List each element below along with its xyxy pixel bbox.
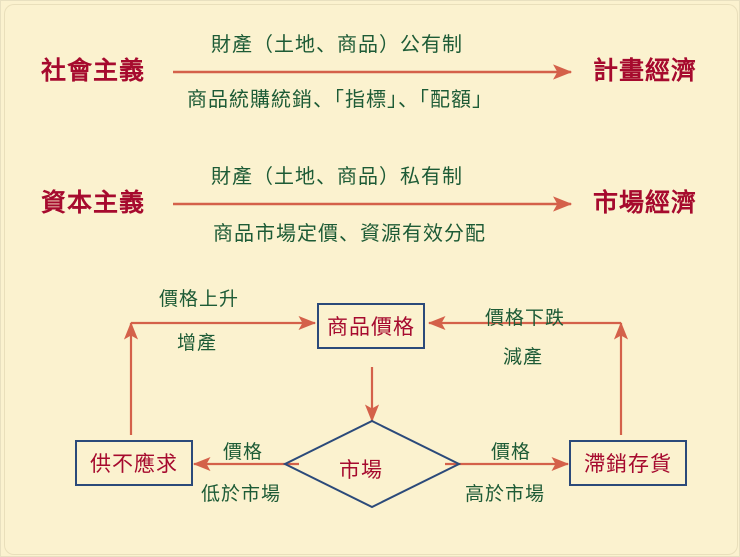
- commodity-price-label: 商品價格: [327, 311, 415, 341]
- increase-production-label: 增產: [177, 334, 217, 353]
- market-label: 市場: [339, 454, 383, 484]
- price-rise-label: 價格上升: [159, 290, 239, 309]
- market-diamond: 市場: [285, 421, 459, 507]
- socialism-label: 社會主義: [41, 58, 145, 83]
- capitalism-label: 資本主義: [41, 190, 145, 215]
- price-fall-label: 價格下跌: [485, 309, 565, 328]
- right-price-label: 價格: [491, 443, 531, 462]
- middle-above-arrow-text: 財產（土地、商品）私有制: [211, 166, 463, 186]
- below-market-label: 低於市場: [201, 485, 281, 504]
- decrease-production-label: 減產: [503, 348, 543, 367]
- planned-economy-label: 計畫經濟: [593, 58, 697, 83]
- top-above-arrow-text: 財產（土地、商品）公有制: [211, 34, 463, 54]
- top-below-arrow-text: 商品統購統銷、「指標」、「配額」: [187, 89, 493, 109]
- diagram-canvas: 社會主義 計畫經濟 財產（土地、商品）公有制 商品統購統銷、「指標」、「配額」 …: [0, 0, 740, 557]
- surplus-box: 滯銷存貨: [569, 440, 687, 486]
- shortage-label: 供不應求: [90, 448, 178, 478]
- left-price-label: 價格: [223, 443, 263, 462]
- shortage-box: 供不應求: [75, 440, 193, 486]
- middle-below-arrow-text: 商品市場定價、資源有效分配: [213, 223, 486, 243]
- above-market-label: 高於市場: [465, 485, 545, 504]
- market-economy-label: 市場經濟: [593, 190, 697, 215]
- commodity-price-box: 商品價格: [317, 303, 425, 349]
- surplus-label: 滯銷存貨: [584, 448, 672, 478]
